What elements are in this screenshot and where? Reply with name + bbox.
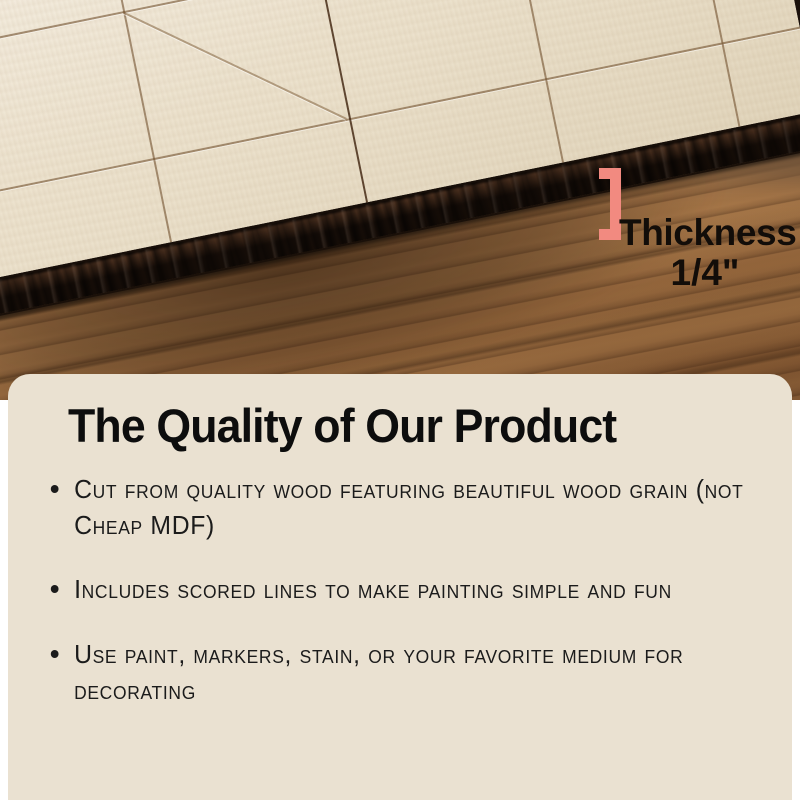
thickness-label: Thickness (619, 214, 796, 251)
thickness-value: 1/4" (619, 254, 791, 291)
product-feature-card: Thickness 1/4" The Quality of Our Produc… (0, 0, 800, 800)
list-item: Cut from quality wood featuring beautifu… (44, 472, 752, 544)
list-item: Use paint, markers, stain, or your favor… (44, 637, 752, 709)
product-photo: Thickness 1/4" (0, 0, 800, 400)
thickness-bracket-icon (599, 168, 621, 240)
bullet-dot-icon (51, 650, 59, 658)
list-item-label: Includes scored lines to make painting s… (74, 576, 672, 604)
list-item-label: Cut from quality wood featuring beautifu… (74, 476, 743, 540)
list-item: Includes scored lines to make painting s… (44, 572, 752, 608)
bullet-dot-icon (51, 585, 59, 593)
feature-list: Cut from quality wood featuring beautifu… (44, 472, 774, 709)
page-title: The Quality of Our Product (68, 398, 616, 453)
list-item-label: Use paint, markers, stain, or your favor… (74, 641, 683, 705)
bracket-arm-bottom (599, 229, 621, 240)
bullet-dot-icon (51, 485, 59, 493)
quality-panel: The Quality of Our Product Cut from qual… (8, 374, 792, 800)
